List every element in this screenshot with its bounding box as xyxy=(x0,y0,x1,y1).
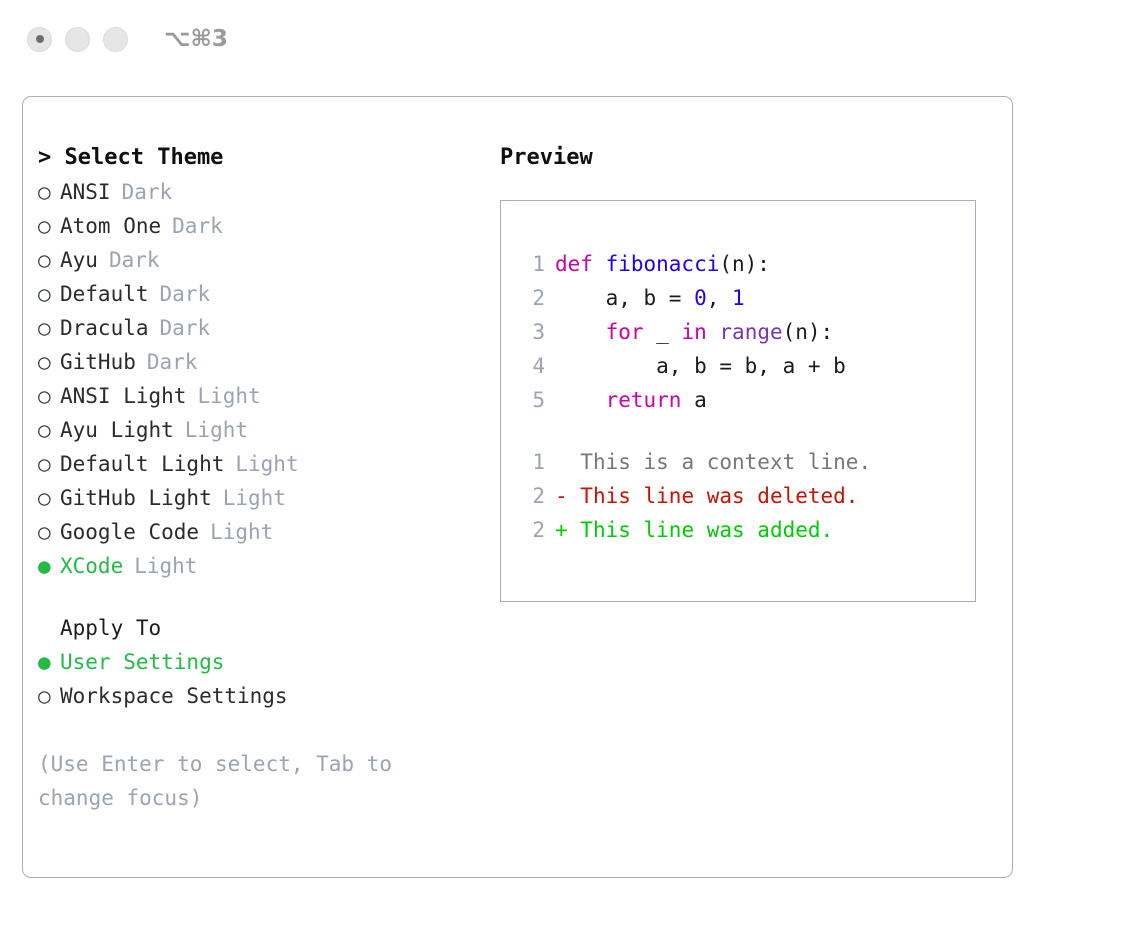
apply-to-options-list[interactable]: ●User Settings○Workspace Settings xyxy=(38,645,478,713)
radio-unselected-icon[interactable]: ○ xyxy=(38,447,60,481)
preview-header: Preview xyxy=(500,141,995,175)
theme-option-label: Ayu Light xyxy=(60,413,174,447)
theme-option-variant: Light xyxy=(185,413,248,447)
theme-option-variant: Dark xyxy=(109,243,160,277)
code-line-text: return a xyxy=(555,383,707,417)
code-token-pl xyxy=(555,388,606,412)
diff-line: 2- This line was deleted. xyxy=(517,479,975,513)
code-token-pl: _ xyxy=(644,320,682,344)
theme-option-row[interactable]: ○Default LightLight xyxy=(38,447,478,481)
theme-option-row[interactable]: ○DefaultDark xyxy=(38,277,478,311)
theme-option-variant: Dark xyxy=(172,209,223,243)
theme-option-row[interactable]: ○GitHubDark xyxy=(38,345,478,379)
code-token-num: 1 xyxy=(732,286,745,310)
code-line-number: 4 xyxy=(517,349,545,383)
apply-to-header: Apply To xyxy=(38,611,478,645)
code-line-text: a, b = b, a + b xyxy=(555,349,846,383)
theme-option-row[interactable]: ○ANSIDark xyxy=(38,175,478,209)
diff-line: 2+ This line was added. xyxy=(517,513,975,547)
diff-line: 1 This is a context line. xyxy=(517,445,975,479)
code-token-bi: range xyxy=(719,320,782,344)
main-panel: > Select Theme ○ANSIDark○Atom OneDark○Ay… xyxy=(22,96,1013,878)
theme-option-variant: Dark xyxy=(160,311,211,345)
code-token-kw: return xyxy=(606,388,682,412)
radio-unselected-icon[interactable]: ○ xyxy=(38,481,60,515)
theme-option-label: XCode xyxy=(60,549,123,583)
diff-line-text: - This line was deleted. xyxy=(555,479,858,513)
title-bar: ⌥⌘3 xyxy=(0,0,1140,78)
theme-option-variant: Dark xyxy=(122,175,173,209)
code-line-text: for _ in range(n): xyxy=(555,315,833,349)
theme-options-list[interactable]: ○ANSIDark○Atom OneDark○AyuDark○DefaultDa… xyxy=(38,175,478,583)
code-line: 5 return a xyxy=(517,383,975,417)
traffic-light-maximize-icon[interactable] xyxy=(103,27,128,52)
diff-line-text: This is a context line. xyxy=(555,445,871,479)
code-token-pl: (n): xyxy=(719,252,770,276)
code-token-kw: in xyxy=(681,320,706,344)
preview-code-box: 1def fibonacci(n):2 a, b = 0, 13 for _ i… xyxy=(500,200,976,602)
code-token-pl xyxy=(555,320,606,344)
code-token-kw: for xyxy=(606,320,644,344)
diff-marker: - xyxy=(555,484,568,508)
radio-unselected-icon[interactable]: ○ xyxy=(38,515,60,549)
theme-option-row[interactable]: ●XCodeLight xyxy=(38,549,478,583)
theme-selector-column: > Select Theme ○ANSIDark○Atom OneDark○Ay… xyxy=(38,141,478,815)
theme-option-variant: Light xyxy=(223,481,286,515)
radio-selected-icon[interactable]: ● xyxy=(38,645,60,679)
code-token-pl: (n): xyxy=(783,320,834,344)
theme-option-label: Atom One xyxy=(60,209,161,243)
diff-text: This line was deleted. xyxy=(568,484,859,508)
diff-line-number: 2 xyxy=(517,513,545,547)
traffic-light-minimize-icon[interactable] xyxy=(65,27,90,52)
theme-option-label: Ayu xyxy=(60,243,98,277)
theme-option-row[interactable]: ○Google CodeLight xyxy=(38,515,478,549)
theme-option-label: Dracula xyxy=(60,311,149,345)
code-line-text: a, b = 0, 1 xyxy=(555,281,745,315)
theme-option-row[interactable]: ○GitHub LightLight xyxy=(38,481,478,515)
code-token-pl: a xyxy=(681,388,706,412)
theme-option-label: ANSI xyxy=(60,175,111,209)
diff-text: This line was added. xyxy=(568,518,834,542)
code-token-pl: , xyxy=(707,286,732,310)
theme-option-label: GitHub xyxy=(60,345,136,379)
theme-option-variant: Dark xyxy=(147,345,198,379)
radio-unselected-icon[interactable]: ○ xyxy=(38,243,60,277)
diff-marker xyxy=(555,450,568,474)
radio-unselected-icon[interactable]: ○ xyxy=(38,413,60,447)
keyboard-hint-text: (Use Enter to select, Tab to change focu… xyxy=(38,747,446,815)
radio-unselected-icon[interactable]: ○ xyxy=(38,175,60,209)
code-line-number: 2 xyxy=(517,281,545,315)
code-line: 3 for _ in range(n): xyxy=(517,315,975,349)
radio-unselected-icon[interactable]: ○ xyxy=(38,345,60,379)
code-token-fn: fibonacci xyxy=(606,252,720,276)
radio-selected-icon[interactable]: ● xyxy=(38,549,60,583)
theme-option-row[interactable]: ○ANSI LightLight xyxy=(38,379,478,413)
theme-option-variant: Light xyxy=(134,549,197,583)
traffic-light-dot-inner xyxy=(36,35,44,43)
theme-option-row[interactable]: ○DraculaDark xyxy=(38,311,478,345)
code-line-number: 3 xyxy=(517,315,545,349)
code-line: 4 a, b = b, a + b xyxy=(517,349,975,383)
apply-to-option-label: User Settings xyxy=(60,645,224,679)
preview-column: Preview 1def fibonacci(n):2 a, b = 0, 13… xyxy=(500,141,995,602)
code-line-text: def fibonacci(n): xyxy=(555,247,770,281)
keyboard-shortcut-label: ⌥⌘3 xyxy=(164,26,228,52)
code-token-pl: a, b = xyxy=(555,286,694,310)
radio-unselected-icon[interactable]: ○ xyxy=(38,379,60,413)
diff-text: This is a context line. xyxy=(568,450,871,474)
theme-option-label: Default xyxy=(60,277,149,311)
code-token-num: 0 xyxy=(694,286,707,310)
diff-line-text: + This line was added. xyxy=(555,513,833,547)
code-line-number: 1 xyxy=(517,247,545,281)
code-diff-spacer xyxy=(517,417,975,445)
theme-option-label: Default Light xyxy=(60,447,224,481)
code-line: 1def fibonacci(n): xyxy=(517,247,975,281)
diff-line-number: 1 xyxy=(517,445,545,479)
code-snippet: 1def fibonacci(n):2 a, b = 0, 13 for _ i… xyxy=(517,247,975,417)
apply-to-option-row[interactable]: ○Workspace Settings xyxy=(38,679,478,713)
theme-option-row[interactable]: ○Ayu LightLight xyxy=(38,413,478,447)
apply-to-section: Apply To ●User Settings○Workspace Settin… xyxy=(38,611,478,713)
theme-option-variant: Light xyxy=(235,447,298,481)
diff-line-number: 2 xyxy=(517,479,545,513)
radio-unselected-icon[interactable]: ○ xyxy=(38,209,60,243)
theme-option-row[interactable]: ○AyuDark xyxy=(38,243,478,277)
radio-unselected-icon[interactable]: ○ xyxy=(38,679,60,713)
theme-option-label: ANSI Light xyxy=(60,379,186,413)
radio-unselected-icon[interactable]: ○ xyxy=(38,311,60,345)
diff-marker: + xyxy=(555,518,568,542)
theme-option-variant: Light xyxy=(197,379,260,413)
apply-to-option-label: Workspace Settings xyxy=(60,679,288,713)
theme-option-label: GitHub Light xyxy=(60,481,212,515)
theme-option-variant: Light xyxy=(210,515,273,549)
radio-unselected-icon[interactable]: ○ xyxy=(38,277,60,311)
code-token-pl: a, b = b, a + b xyxy=(555,354,846,378)
diff-snippet: 1 This is a context line.2- This line wa… xyxy=(517,445,975,547)
code-line: 2 a, b = 0, 1 xyxy=(517,281,975,315)
theme-option-variant: Dark xyxy=(160,277,211,311)
theme-option-label: Google Code xyxy=(60,515,199,549)
apply-to-option-row[interactable]: ●User Settings xyxy=(38,645,478,679)
code-token-kw: def xyxy=(555,252,606,276)
traffic-light-close-icon[interactable] xyxy=(27,27,52,52)
window-controls xyxy=(27,27,128,52)
code-token-pl xyxy=(707,320,720,344)
select-theme-header: > Select Theme xyxy=(38,141,478,175)
code-line-number: 5 xyxy=(517,383,545,417)
theme-option-row[interactable]: ○Atom OneDark xyxy=(38,209,478,243)
